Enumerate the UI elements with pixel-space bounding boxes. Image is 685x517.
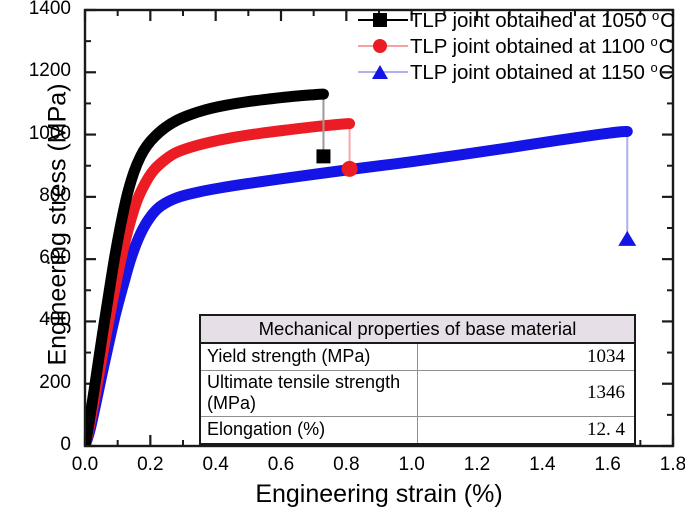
- x-tick-label: 0.0: [55, 454, 115, 476]
- legend-item: TLP joint obtained at 1150 oC: [356, 59, 676, 85]
- y-tick-label: 600: [1, 247, 71, 269]
- x-tick-label: 1.8: [643, 454, 685, 476]
- fracture-marker-circle: [342, 161, 358, 177]
- x-axis-title: Engineering strain (%): [85, 480, 673, 509]
- y-tick-label: 400: [1, 309, 71, 331]
- table-cell-value: 1034: [418, 343, 636, 371]
- legend-label: TLP joint obtained at 1150 oC: [410, 60, 673, 85]
- y-tick-label: 1000: [1, 123, 71, 145]
- x-tick-label: 0.6: [251, 454, 311, 476]
- x-tick-label: 0.8: [316, 454, 376, 476]
- table-row: Yield strength (MPa) 1034: [200, 343, 635, 371]
- y-tick-label: 1400: [1, 0, 71, 20]
- y-tick-label: 800: [1, 185, 71, 207]
- legend-label: TLP joint obtained at 1050 oC: [410, 8, 675, 33]
- legend-label-text: TLP joint obtained at 1150: [410, 61, 650, 84]
- table-cell-value: 12. 4: [418, 417, 636, 445]
- fracture-marker-triangle: [618, 231, 636, 246]
- legend-marker-circle: [356, 35, 410, 57]
- legend-marker-triangle: [356, 61, 410, 83]
- legend-label-unit: C: [660, 9, 675, 32]
- y-tick-label: 200: [1, 372, 71, 394]
- fracture-marker-square: [316, 149, 330, 163]
- x-tick-label: 1.4: [512, 454, 572, 476]
- legend-label-unit: C: [659, 61, 674, 84]
- x-tick-label: 0.4: [186, 454, 246, 476]
- x-tick-label: 1.0: [382, 454, 442, 476]
- chart-legend: TLP joint obtained at 1050 oC TLP joint …: [356, 7, 676, 85]
- legend-label: TLP joint obtained at 1100 oC: [410, 34, 673, 59]
- base-material-properties-table: Mechanical properties of base material Y…: [199, 314, 636, 445]
- degree-symbol-icon: o: [652, 8, 660, 23]
- y-tick-label: 1200: [1, 60, 71, 82]
- legend-item: TLP joint obtained at 1100 oC: [356, 33, 676, 59]
- y-tick-label: 0: [1, 434, 71, 456]
- x-tick-label: 1.2: [447, 454, 507, 476]
- table-header-cell: Mechanical properties of base material: [200, 315, 635, 343]
- degree-symbol-icon: o: [650, 34, 658, 49]
- legend-label-unit: C: [659, 35, 674, 58]
- legend-marker-square: [356, 9, 410, 31]
- table-cell-label: Yield strength (MPa): [200, 343, 418, 371]
- table-cell-label: Ultimate tensile strength (MPa): [200, 371, 418, 417]
- x-tick-label: 1.6: [578, 454, 638, 476]
- x-tick-label: 0.2: [120, 454, 180, 476]
- legend-label-text: TLP joint obtained at 1050: [410, 9, 652, 32]
- table-row: Ultimate tensile strength (MPa) 1346: [200, 371, 635, 417]
- table-header-row: Mechanical properties of base material: [200, 315, 635, 343]
- table-row: Elongation (%) 12. 4: [200, 417, 635, 445]
- table-cell-label: Elongation (%): [200, 417, 418, 445]
- legend-item: TLP joint obtained at 1050 oC: [356, 7, 676, 33]
- legend-label-text: TLP joint obtained at 1100: [410, 35, 650, 58]
- stress-strain-figure: Engineering stress (MPa) Engineering str…: [0, 0, 685, 517]
- degree-symbol-icon: o: [650, 60, 658, 75]
- table-cell-value: 1346: [418, 371, 636, 417]
